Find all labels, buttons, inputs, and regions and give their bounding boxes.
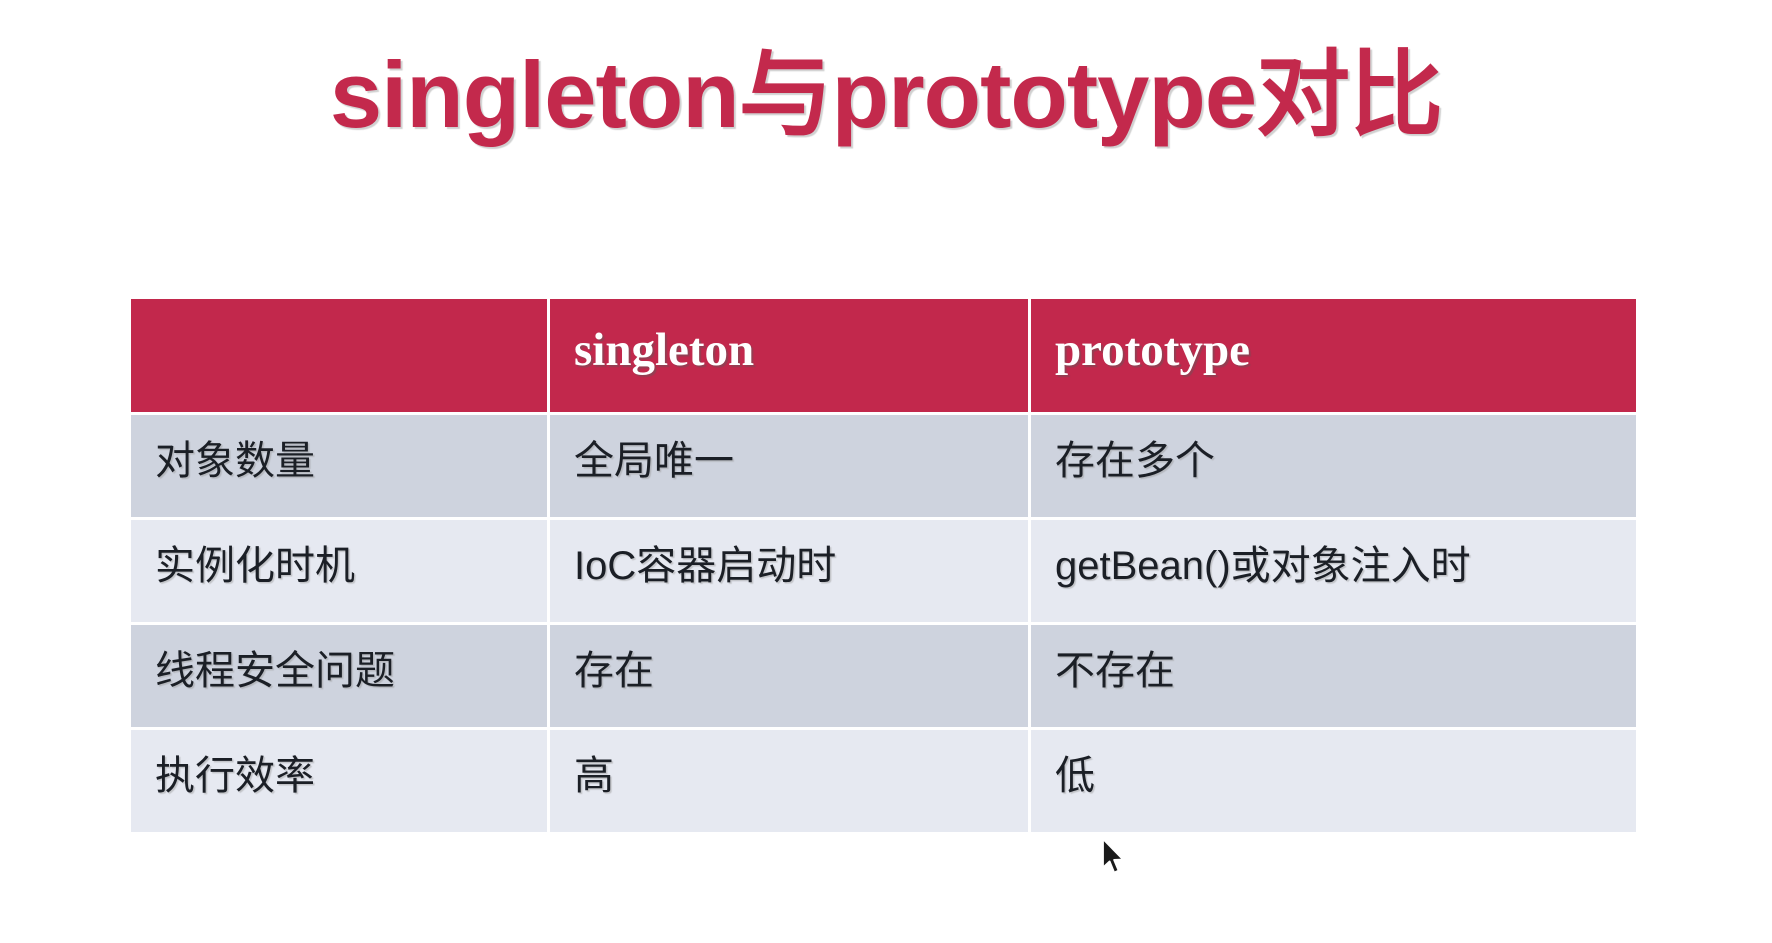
table-row: 对象数量 全局唯一 存在多个 — [131, 415, 1636, 517]
table-row: 实例化时机 IoC容器启动时 getBean()或对象注入时 — [131, 520, 1636, 622]
row-label: 线程安全问题 — [131, 625, 547, 727]
row-singleton-value: 存在 — [550, 625, 1028, 727]
slide-canvas: singleton与prototype对比 singleton prototyp… — [0, 0, 1772, 943]
row-singleton-value: IoC容器启动时 — [550, 520, 1028, 622]
table-row: 执行效率 高 低 — [131, 730, 1636, 832]
row-prototype-value: getBean()或对象注入时 — [1031, 520, 1636, 622]
row-prototype-value: 存在多个 — [1031, 415, 1636, 517]
row-prototype-value: 不存在 — [1031, 625, 1636, 727]
row-prototype-value: 低 — [1031, 730, 1636, 832]
row-label: 执行效率 — [131, 730, 547, 832]
table-header: singleton prototype — [131, 299, 1636, 412]
row-singleton-value: 全局唯一 — [550, 415, 1028, 517]
mouse-pointer-icon — [1101, 838, 1127, 876]
table-header-singleton: singleton — [550, 299, 1028, 412]
table-header-blank — [131, 299, 547, 412]
table-row: 线程安全问题 存在 不存在 — [131, 625, 1636, 727]
comparison-table: singleton prototype 对象数量 全局唯一 存在多个 实例化时机… — [128, 296, 1639, 835]
row-label: 实例化时机 — [131, 520, 547, 622]
table-header-row: singleton prototype — [131, 299, 1636, 412]
table-body: 对象数量 全局唯一 存在多个 实例化时机 IoC容器启动时 getBean()或… — [131, 415, 1636, 832]
row-singleton-value: 高 — [550, 730, 1028, 832]
row-label: 对象数量 — [131, 415, 547, 517]
page-title: singleton与prototype对比 — [0, 44, 1772, 146]
table-header-prototype: prototype — [1031, 299, 1636, 412]
